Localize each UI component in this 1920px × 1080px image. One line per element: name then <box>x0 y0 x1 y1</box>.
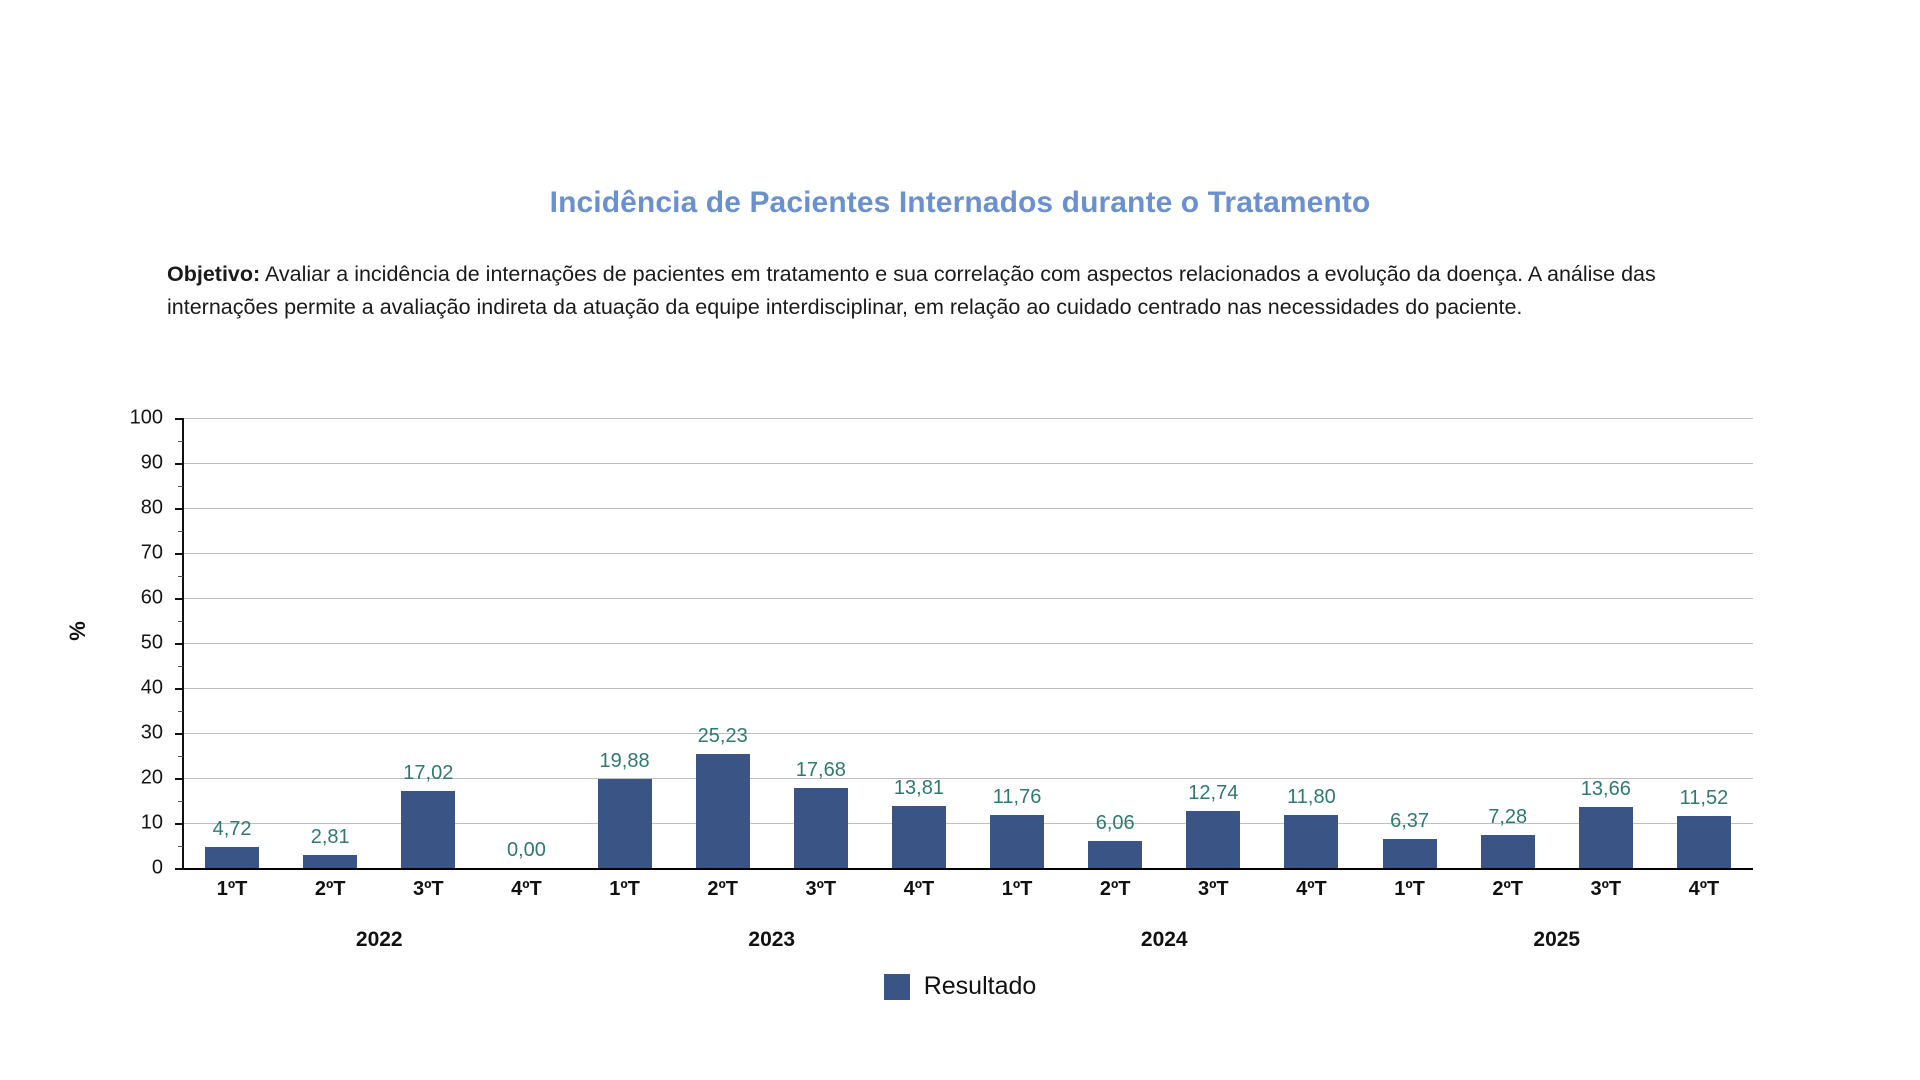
bar-slot: 4,72 <box>183 418 281 868</box>
x-axis-quarter-label: 1ºT <box>1361 878 1459 901</box>
bar-slot: 19,88 <box>576 418 674 868</box>
x-axis-quarter-label: 4ºT <box>870 878 968 901</box>
x-axis-quarter-label: 3ºT <box>1164 878 1262 901</box>
x-axis-quarter-label: 3ºT <box>379 878 477 901</box>
bar[interactable] <box>1186 811 1240 868</box>
y-axis-major-tick <box>175 688 183 690</box>
x-axis-year-label: 2024 <box>968 928 1361 952</box>
y-axis-tick-label: 70 <box>103 542 163 565</box>
y-axis-minor-tick <box>178 666 183 667</box>
x-axis-quarter-label: 3ºT <box>772 878 870 901</box>
bar-value-label: 12,74 <box>1188 782 1238 805</box>
x-axis-quarter-label: 1ºT <box>968 878 1066 901</box>
y-axis-tick-label: 60 <box>103 587 163 610</box>
y-axis-minor-tick <box>178 486 183 487</box>
x-axis-quarter-label: 2ºT <box>281 878 379 901</box>
bar-value-label: 17,02 <box>403 762 453 785</box>
bar-slot: 6,06 <box>1066 418 1164 868</box>
bar-value-label: 0,00 <box>507 839 546 862</box>
chart-legend: Resultado <box>0 972 1920 1001</box>
bar-value-label: 19,88 <box>600 750 650 773</box>
bar-slot: 25,23 <box>674 418 772 868</box>
bar-value-label: 11,80 <box>1287 786 1336 809</box>
bar[interactable] <box>303 855 357 868</box>
y-axis-minor-tick <box>178 846 183 847</box>
x-axis-quarter-label: 4ºT <box>1655 878 1753 901</box>
objective-text: Avaliar a incidência de internações de p… <box>167 262 1656 319</box>
bar-slot: 13,81 <box>870 418 968 868</box>
x-axis-year-label: 2025 <box>1361 928 1754 952</box>
bar-slot: 17,68 <box>772 418 870 868</box>
bar-slot: 11,52 <box>1655 418 1753 868</box>
bar-slot: 11,80 <box>1262 418 1360 868</box>
y-axis-minor-tick <box>178 801 183 802</box>
gridline <box>183 868 1753 870</box>
x-axis-year-label: 2023 <box>576 928 969 952</box>
x-axis-year-labels: 2022202320242025 <box>183 928 1753 952</box>
x-axis-quarter-label: 2ºT <box>674 878 772 901</box>
y-axis-tick-label: 40 <box>103 677 163 700</box>
y-axis-major-tick <box>175 823 183 825</box>
x-axis-quarter-label: 2ºT <box>1066 878 1164 901</box>
y-axis-major-tick <box>175 733 183 735</box>
y-axis-major-tick <box>175 463 183 465</box>
x-axis-quarter-label: 1ºT <box>183 878 281 901</box>
y-axis-minor-tick <box>178 531 183 532</box>
bar-slot: 6,37 <box>1361 418 1459 868</box>
x-axis-quarter-label: 3ºT <box>1557 878 1655 901</box>
bar-slot: 12,74 <box>1164 418 1262 868</box>
bar-slot: 2,81 <box>281 418 379 868</box>
bar-slot: 13,66 <box>1557 418 1655 868</box>
y-axis-minor-tick <box>178 441 183 442</box>
x-axis-quarter-label: 4ºT <box>1262 878 1360 901</box>
x-axis-quarter-label: 4ºT <box>477 878 575 901</box>
x-axis-quarter-label: 1ºT <box>576 878 674 901</box>
bar-chart: % 1009080706050403020100 4,722,8117,020,… <box>0 400 1920 1020</box>
x-axis-year-label: 2022 <box>183 928 576 952</box>
bar-value-label: 7,28 <box>1488 806 1527 829</box>
bar[interactable] <box>401 791 455 868</box>
y-axis-minor-tick <box>178 711 183 712</box>
y-axis-tick-label: 90 <box>103 452 163 475</box>
bar-slot: 17,02 <box>379 418 477 868</box>
bar-value-label: 11,52 <box>1680 787 1729 810</box>
bar[interactable] <box>696 754 750 868</box>
bar-value-label: 13,66 <box>1581 778 1631 801</box>
y-axis-tick-label: 30 <box>103 722 163 745</box>
y-axis-major-tick <box>175 553 183 555</box>
bar[interactable] <box>892 806 946 868</box>
bar-value-label: 6,37 <box>1390 810 1429 833</box>
bar-slot: 7,28 <box>1459 418 1557 868</box>
y-axis-tick-label: 0 <box>103 857 163 880</box>
y-axis-major-tick <box>175 778 183 780</box>
bar[interactable] <box>1284 815 1338 868</box>
y-axis-minor-tick <box>178 621 183 622</box>
y-axis-minor-tick <box>178 576 183 577</box>
y-axis-tick-label: 20 <box>103 767 163 790</box>
bar[interactable] <box>205 847 259 868</box>
bar-slot: 11,76 <box>968 418 1066 868</box>
bar-value-label: 4,72 <box>213 818 252 841</box>
legend-label-resultado: Resultado <box>924 972 1037 1001</box>
y-axis-tick-label: 80 <box>103 497 163 520</box>
bar-series-resultado: 4,722,8117,020,0019,8825,2317,6813,8111,… <box>183 418 1753 868</box>
bar[interactable] <box>1677 816 1731 868</box>
y-axis-major-tick <box>175 868 183 870</box>
y-axis-major-tick <box>175 598 183 600</box>
bar[interactable] <box>1088 841 1142 868</box>
slide-canvas: Incidência de Pacientes Internados duran… <box>0 0 1920 1080</box>
bar-value-label: 25,23 <box>698 725 748 748</box>
bar-value-label: 2,81 <box>311 826 350 849</box>
bar-slot: 0,00 <box>477 418 575 868</box>
bar-value-label: 17,68 <box>796 759 846 782</box>
objective-label: Objetivo: <box>167 262 260 286</box>
y-axis-major-tick <box>175 418 183 420</box>
bar[interactable] <box>1579 807 1633 868</box>
x-axis-quarter-labels: 1ºT2ºT3ºT4ºT1ºT2ºT3ºT4ºT1ºT2ºT3ºT4ºT1ºT2… <box>183 878 1753 901</box>
y-axis-tick-label: 10 <box>103 812 163 835</box>
bar[interactable] <box>794 788 848 868</box>
bar-value-label: 6,06 <box>1096 812 1135 835</box>
x-axis-quarter-label: 2ºT <box>1459 878 1557 901</box>
y-axis-major-tick <box>175 643 183 645</box>
bar[interactable] <box>598 779 652 868</box>
y-axis-tick-label: 50 <box>103 632 163 655</box>
bar[interactable] <box>1481 835 1535 868</box>
y-axis-major-tick <box>175 508 183 510</box>
bar-value-label: 13,81 <box>894 777 944 800</box>
legend-swatch-resultado <box>884 974 910 1000</box>
y-axis-minor-tick <box>178 756 183 757</box>
bar[interactable] <box>1383 839 1437 868</box>
objective-paragraph: Objetivo: Avaliar a incidência de intern… <box>167 258 1752 324</box>
page-title: Incidência de Pacientes Internados duran… <box>0 186 1920 220</box>
y-axis-tick-label: 100 <box>103 407 163 430</box>
bar[interactable] <box>990 815 1044 868</box>
bar-value-label: 11,76 <box>993 786 1042 809</box>
